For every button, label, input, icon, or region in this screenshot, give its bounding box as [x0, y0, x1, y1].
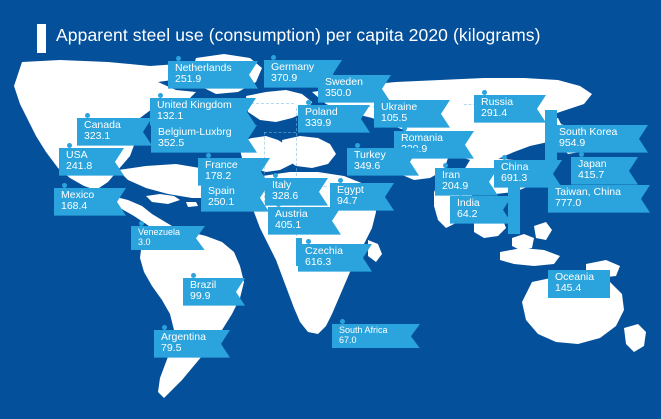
- label-chip-united-kingdom[interactable]: United Kingdom132.1: [150, 98, 256, 126]
- russia-dot: [482, 90, 487, 95]
- brazil-dot: [191, 273, 196, 278]
- leader-dash: [264, 132, 265, 208]
- country-value: 954.9: [559, 138, 631, 149]
- country-value: 405.1: [275, 220, 324, 231]
- label-chip-ukraine[interactable]: Ukraine105.5: [374, 100, 450, 128]
- label-chip-russia[interactable]: Russia291.4: [474, 95, 546, 123]
- country-value: 777.0: [555, 198, 633, 209]
- country-value: 328.6: [272, 191, 311, 202]
- south-africa-dot: [340, 319, 345, 324]
- canada-dot: [85, 113, 90, 118]
- venezuela-dot: [139, 221, 144, 226]
- taiwan-stalk: [508, 182, 520, 234]
- leader-dash: [246, 103, 294, 104]
- label-chip-venezuela[interactable]: Venezuela3.0: [131, 226, 205, 250]
- country-value: 616.3: [305, 257, 355, 268]
- germany-dot: [271, 55, 276, 60]
- united-kingdom-dot: [158, 93, 163, 98]
- country-value: 79.5: [161, 343, 213, 354]
- label-chip-sweden[interactable]: Sweden350.0: [318, 75, 391, 103]
- country-value: 349.6: [354, 161, 402, 172]
- label-chip-belgium-luxbrg[interactable]: Belgium-Luxbrg352.5: [151, 125, 257, 153]
- country-value: 132.1: [157, 111, 239, 122]
- label-chip-canada[interactable]: Canada323.1: [77, 118, 152, 146]
- argentina-dot: [162, 325, 167, 330]
- turkey-dot: [355, 143, 360, 148]
- country-value: 251.9: [175, 74, 241, 85]
- label-chip-turkey[interactable]: Turkey349.6: [347, 148, 419, 176]
- leader-dash: [264, 132, 296, 133]
- country-value: 370.9: [271, 73, 325, 84]
- france-dot: [206, 153, 211, 158]
- netherlands-dot: [176, 56, 181, 61]
- country-value: 691.3: [501, 173, 545, 184]
- country-value: 99.9: [190, 291, 228, 302]
- label-chip-czechia[interactable]: Czechia616.3: [298, 244, 372, 272]
- country-value: 168.4: [61, 201, 109, 212]
- country-value: 64.2: [457, 209, 495, 220]
- label-chip-taiwan-china[interactable]: Taiwan, China777.0: [548, 185, 650, 213]
- iran-dot: [443, 163, 448, 168]
- country-value: 350.0: [325, 88, 374, 99]
- label-chip-brazil[interactable]: Brazil99.9: [183, 278, 245, 306]
- italy-dot: [273, 173, 278, 178]
- title-accent-bar: [37, 24, 46, 53]
- country-value: 415.7: [578, 170, 621, 181]
- label-chip-india[interactable]: India64.2: [450, 196, 512, 224]
- china-dot: [502, 155, 507, 160]
- label-chip-poland[interactable]: Poland339.9: [298, 105, 370, 133]
- title-bar: Apparent steel use (consumption) per cap…: [0, 0, 661, 56]
- country-value: 323.1: [84, 131, 135, 142]
- label-chip-italy[interactable]: Italy328.6: [265, 178, 328, 206]
- czechia-dot: [306, 239, 311, 244]
- egypt-dot: [338, 178, 343, 183]
- country-value: 178.2: [205, 171, 253, 182]
- japan-dot: [579, 152, 584, 157]
- country-value: 105.5: [381, 113, 433, 124]
- label-chip-egypt[interactable]: Egypt94.7: [330, 183, 394, 211]
- label-chip-iran[interactable]: Iran204.9: [435, 168, 498, 196]
- country-value: 3.0: [138, 238, 188, 248]
- country-value: 94.7: [337, 196, 377, 207]
- label-chip-mexico[interactable]: Mexico168.4: [54, 188, 126, 216]
- label-chip-japan[interactable]: Japan415.7: [571, 157, 638, 185]
- label-chip-china[interactable]: China691.3: [494, 160, 562, 188]
- label-chip-spain[interactable]: Spain250.1: [201, 184, 269, 212]
- country-value: 145.4: [555, 283, 603, 294]
- mexico-dot: [62, 183, 67, 188]
- label-chip-south-africa[interactable]: South Africa67.0: [332, 324, 420, 348]
- label-chip-france[interactable]: France178.2: [198, 158, 270, 186]
- poland-dot: [306, 100, 311, 105]
- country-value: 67.0: [339, 336, 403, 346]
- country-value: 241.8: [66, 161, 107, 172]
- usa-dot: [67, 143, 72, 148]
- country-value: 339.9: [305, 118, 353, 129]
- infographic-map-page: Apparent steel use (consumption) per cap…: [0, 0, 661, 419]
- country-value: 250.1: [208, 197, 252, 208]
- label-chip-austria[interactable]: Austria405.1: [268, 207, 341, 235]
- label-chip-usa[interactable]: USA241.8: [59, 148, 124, 176]
- page-title: Apparent steel use (consumption) per cap…: [56, 25, 541, 46]
- label-chip-netherlands[interactable]: Netherlands251.9: [168, 61, 258, 89]
- label-chip-argentina[interactable]: Argentina79.5: [154, 330, 230, 358]
- label-chip-south-korea[interactable]: South Korea954.9: [552, 125, 648, 153]
- country-value: 291.4: [481, 108, 529, 119]
- country-value: 204.9: [442, 181, 481, 192]
- country-value: 352.5: [158, 138, 240, 149]
- label-chip-oceania[interactable]: Oceania145.4: [548, 270, 610, 298]
